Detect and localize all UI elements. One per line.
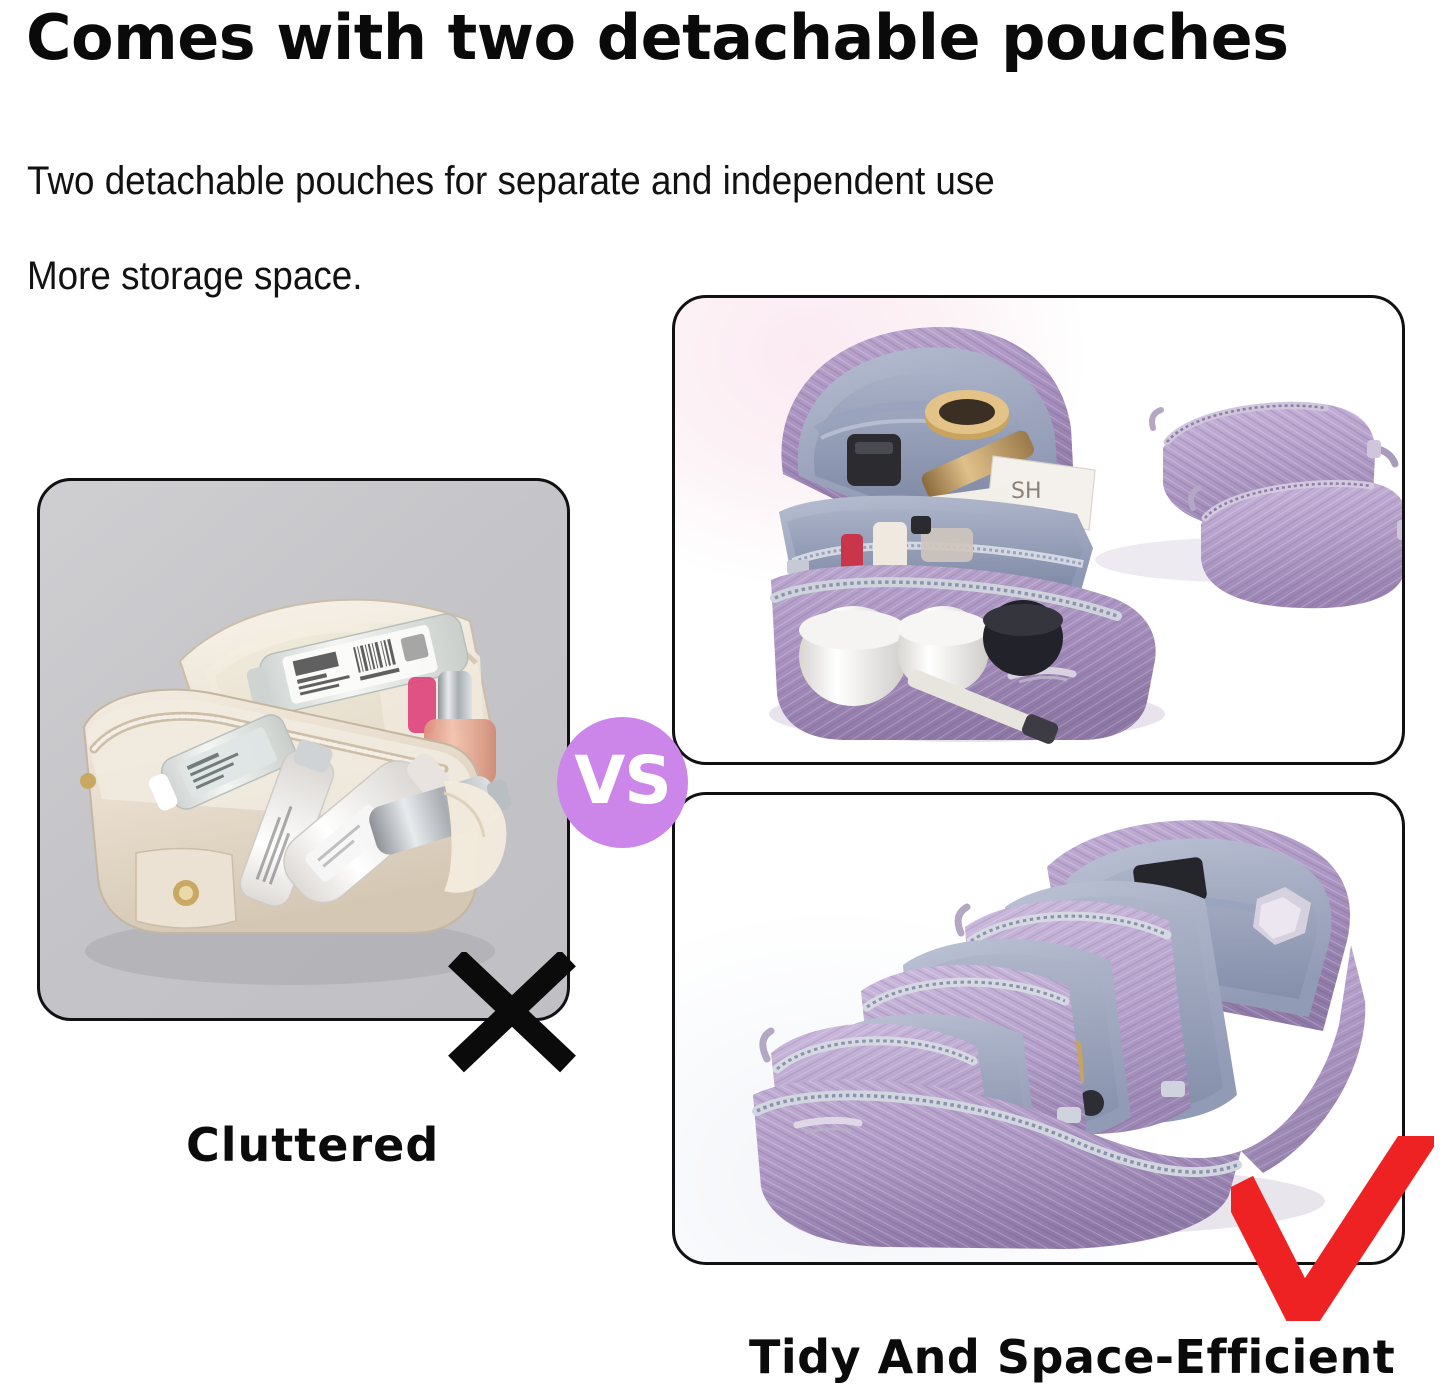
cluttered-bag-panel [37, 478, 570, 1021]
detachable-pouches-photo: SH [675, 298, 1402, 762]
subtitle-line-2: More storage space. [27, 253, 362, 299]
x-mark-icon [446, 952, 578, 1076]
vs-badge: VS [557, 717, 688, 848]
page-title: Comes with two detachable pouches [26, 2, 1426, 74]
infographic-page: Comes with two detachable pouches Two de… [0, 0, 1445, 1391]
pouches-illustration: SH [675, 298, 1405, 765]
check-mark-icon [1231, 1136, 1434, 1321]
cluttered-caption: Cluttered [186, 1117, 439, 1173]
svg-text:SH: SH [1011, 479, 1042, 504]
subtitle-line-1: Two detachable pouches for separate and … [27, 158, 995, 204]
tidy-caption: Tidy And Space-Efficient [749, 1329, 1395, 1385]
cluttered-bag-photo [40, 481, 567, 1018]
vs-label: VS [574, 748, 671, 814]
detachable-pouches-panel: SH [672, 295, 1405, 765]
cluttered-bag-illustration [40, 481, 570, 1021]
